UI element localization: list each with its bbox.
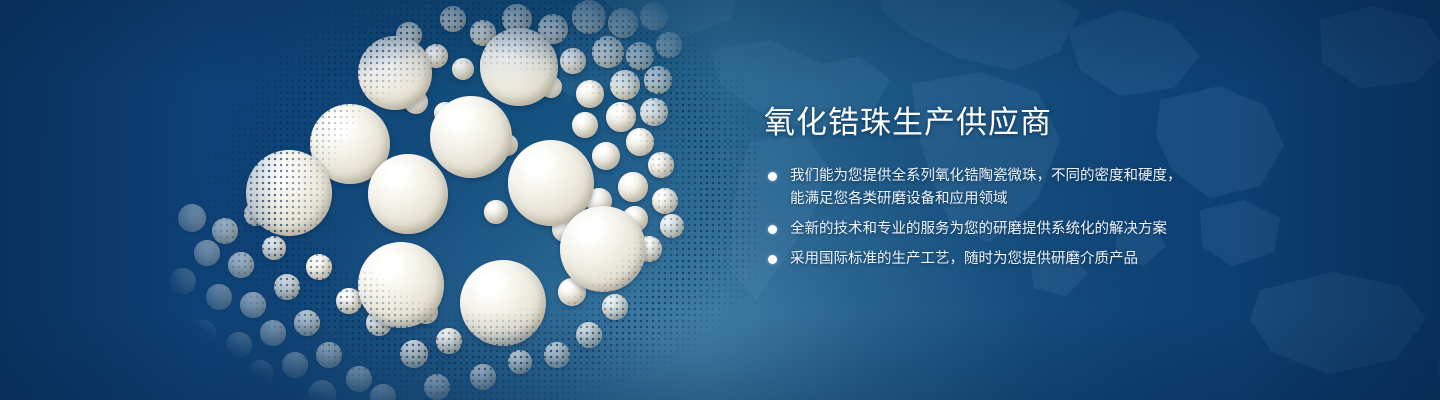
list-item: 采用国际标准的生产工艺，随时为您提供研磨介质产品 xyxy=(762,248,1302,271)
list-item-line1: 采用国际标准的生产工艺，随时为您提供研磨介质产品 xyxy=(790,251,1138,267)
hero-banner: 氧化锆珠生产供应商 我们能为您提供全系列氧化锆陶瓷微珠，不同的密度和硬度， 能满… xyxy=(0,0,1440,400)
list-item-line2: 能满足您各类研磨设备和应用领域 xyxy=(790,188,1302,211)
bullet-dot-icon xyxy=(768,255,777,264)
page-title: 氧化锆珠生产供应商 xyxy=(764,104,1302,143)
banner-content: 氧化锆珠生产供应商 我们能为您提供全系列氧化锆陶瓷微珠，不同的密度和硬度， 能满… xyxy=(762,104,1302,278)
bullet-dot-icon xyxy=(768,225,777,234)
list-item: 我们能为您提供全系列氧化锆陶瓷微珠，不同的密度和硬度， 能满足您各类研磨设备和应… xyxy=(762,165,1302,211)
list-item: 全新的技术和专业的服务为您的研磨提供系统化的解决方案 xyxy=(762,218,1302,241)
list-item-line1: 全新的技术和专业的服务为您的研磨提供系统化的解决方案 xyxy=(790,221,1167,237)
list-item-line1: 我们能为您提供全系列氧化锆陶瓷微珠，不同的密度和硬度， xyxy=(790,168,1182,184)
bullet-dot-icon xyxy=(768,172,777,181)
feature-list: 我们能为您提供全系列氧化锆陶瓷微珠，不同的密度和硬度， 能满足您各类研磨设备和应… xyxy=(762,165,1302,271)
